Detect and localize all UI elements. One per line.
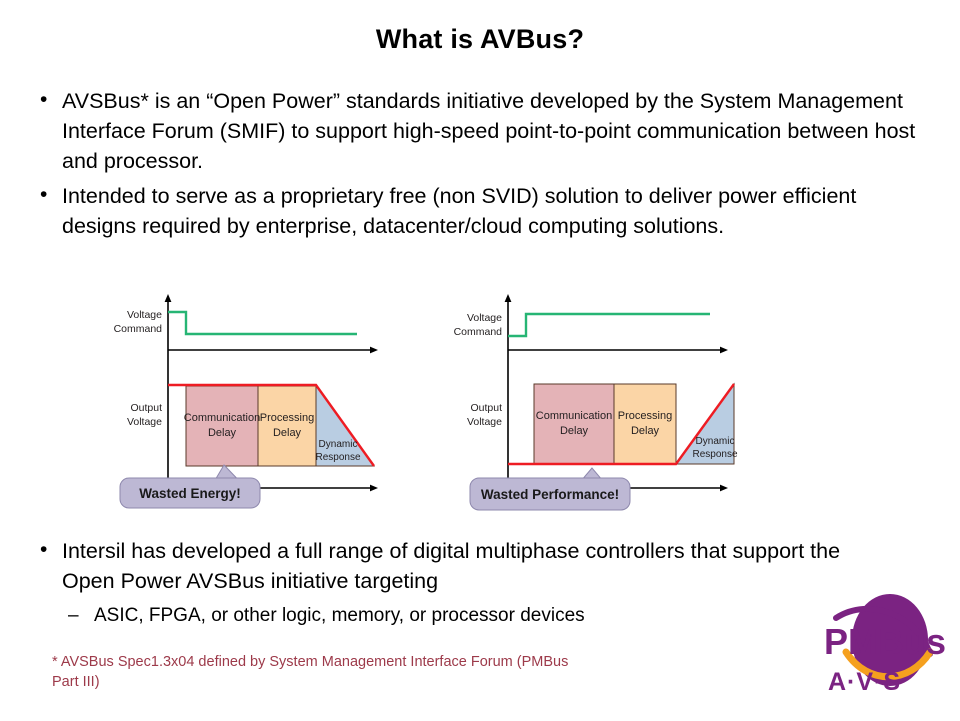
- voltage-command-label-line1: Voltage: [127, 309, 162, 321]
- page-title: What is AVBus?: [0, 24, 960, 55]
- bullet-item: • AVSBus* is an “Open Power” standards i…: [36, 86, 916, 176]
- pmbus-avs-logo: PMBus A·V·S: [806, 592, 956, 716]
- block-label-processing-line2: Delay: [273, 427, 302, 439]
- output-voltage-label-line1: Output: [470, 402, 502, 414]
- callout-text: Wasted Energy!: [139, 486, 241, 501]
- block-label-dynamic-line2: Response: [315, 452, 360, 463]
- subbullet-item: – ASIC, FPGA, or other logic, memory, or…: [64, 602, 876, 630]
- wasted-energy-svg: Voltage Command Output Voltage Communica…: [112, 292, 412, 522]
- output-voltage-label-line2: Voltage: [467, 416, 502, 428]
- block-label-dynamic-line2: Response: [692, 449, 737, 460]
- voltage-command-label-line1: Voltage: [467, 312, 502, 324]
- slide-root: What is AVBus? • AVSBus* is an “Open Pow…: [0, 0, 960, 720]
- bullet-item: • Intersil has developed a full range of…: [36, 536, 876, 596]
- bullet-text: AVSBus* is an “Open Power” standards ini…: [62, 89, 915, 173]
- block-communication-delay: [534, 384, 614, 464]
- block-label-processing-line2: Delay: [631, 425, 660, 437]
- top-x-axis-arrow-icon: [370, 347, 378, 354]
- block-label-processing-line1: Processing: [618, 410, 672, 422]
- subbullet-text: ASIC, FPGA, or other logic, memory, or p…: [94, 605, 585, 626]
- bullet-list-upper: • AVSBus* is an “Open Power” standards i…: [36, 86, 916, 246]
- bullet-marker-icon: •: [40, 535, 47, 565]
- block-label-communication-line1: Communication: [536, 410, 612, 422]
- block-label-processing-line1: Processing: [260, 412, 314, 424]
- block-processing-delay: [258, 386, 316, 466]
- bottom-x-axis-arrow-icon: [370, 485, 378, 492]
- bottom-x-axis-arrow-icon: [720, 485, 728, 492]
- top-x-axis-arrow-icon: [720, 347, 728, 354]
- logo-text-main: PMBus: [824, 621, 946, 662]
- bullet-text: Intersil has developed a full range of d…: [62, 539, 840, 593]
- block-communication-delay: [186, 386, 258, 466]
- diagram-wasted-energy: Voltage Command Output Voltage Communica…: [112, 292, 412, 522]
- block-label-dynamic-line1: Dynamic: [319, 439, 358, 450]
- logo-text-sub: A·V·S: [828, 668, 901, 696]
- voltage-command-trace: [508, 314, 710, 336]
- output-voltage-label-line1: Output: [130, 402, 162, 414]
- subbullet-marker-icon: –: [68, 602, 79, 630]
- top-y-axis-arrow-icon: [165, 294, 172, 302]
- bullet-text: Intended to serve as a proprietary free …: [62, 184, 856, 238]
- block-label-dynamic-line1: Dynamic: [696, 436, 735, 447]
- block-label-communication-line2: Delay: [208, 427, 237, 439]
- callout-text: Wasted Performance!: [481, 487, 619, 502]
- block-processing-delay: [614, 384, 676, 464]
- logo-svg: PMBus A·V·S: [806, 592, 956, 716]
- bullet-marker-icon: •: [40, 85, 47, 115]
- bullet-marker-icon: •: [40, 180, 47, 210]
- bullet-item: • Intended to serve as a proprietary fre…: [36, 181, 916, 241]
- voltage-command-trace: [168, 312, 357, 334]
- wasted-performance-svg: Voltage Command Output Voltage Communica…: [452, 292, 762, 522]
- footnote: * AVSBus Spec1.3x04 defined by System Ma…: [52, 652, 572, 692]
- top-y-axis-arrow-icon: [505, 294, 512, 302]
- voltage-command-label-line2: Command: [114, 323, 163, 335]
- voltage-command-label-line2: Command: [454, 326, 503, 338]
- block-label-communication-line1: Communication: [184, 412, 260, 424]
- diagram-wasted-performance: Voltage Command Output Voltage Communica…: [452, 292, 762, 522]
- output-voltage-label-line2: Voltage: [127, 416, 162, 428]
- block-label-communication-line2: Delay: [560, 425, 589, 437]
- bullet-list-lower: • Intersil has developed a full range of…: [36, 536, 876, 630]
